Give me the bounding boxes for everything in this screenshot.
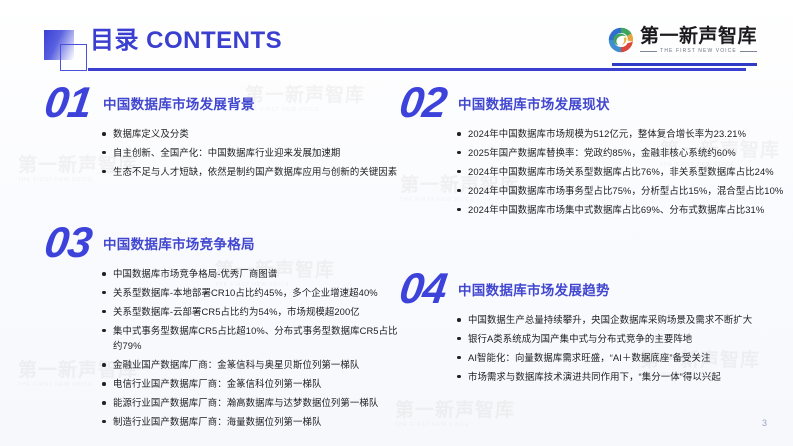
list-item[interactable]: 中国数据库市场竞争格局-优秀厂商图谱: [102, 266, 405, 282]
list-item[interactable]: 生态不足与人才短缺，依然是制约国产数据库应用与创新的关键因素: [102, 164, 405, 180]
section-01-number: 01: [42, 80, 94, 126]
list-item[interactable]: 制造行业国产数据库厂商：海量数据位列第一梯队: [102, 414, 405, 430]
slide-contents-page: 第一新声智库THE FIRST NEW VOICE 第一新声智库THE FIRS…: [0, 0, 793, 446]
section-03-header: 03 中国数据库市场竞争格局: [45, 226, 405, 266]
list-item[interactable]: 2024年中国数据库市场集中式数据库占比69%、分布式数据库占比31%: [457, 202, 785, 218]
first-new-voice-swirl-icon: [607, 26, 635, 54]
list-item[interactable]: 银行A类系统成为国产集中式与分布式竞争的主要阵地: [457, 331, 785, 347]
section-03-title[interactable]: 中国数据库市场竞争格局: [103, 233, 255, 253]
brand-name-cn: 第一新声智库: [640, 27, 757, 46]
section-04-header: 04 中国数据库市场发展趋势: [400, 272, 785, 312]
page-number: 3: [762, 418, 767, 428]
list-item[interactable]: 数据库定义及分类: [102, 126, 405, 142]
list-item[interactable]: 市场需求与数据库技术演进共同作用下，“集分一体”得以兴起: [457, 369, 785, 385]
section-03: 03 中国数据库市场竞争格局 中国数据库市场竞争格局-优秀厂商图谱 关系型数据库…: [45, 226, 405, 433]
list-item[interactable]: 2024年中国数据库市场事务型占比75%，分析型占比15%，混合型占比10%: [457, 183, 785, 199]
tagline-rule-right: [740, 51, 757, 52]
slide-header: 目录 CONTENTS 第一新声智库 THE FIRST NEW VOICE: [0, 0, 793, 80]
section-01-bullets: 数据库定义及分类 自主创新、全国产化：中国数据库行业迎来发展加速期 生态不足与人…: [102, 126, 405, 179]
brand-logo: 第一新声智库 THE FIRST NEW VOICE: [607, 26, 757, 54]
section-01-title[interactable]: 中国数据库市场发展背景: [103, 93, 255, 113]
list-item[interactable]: 2024年中国数据库市场关系型数据库占比76%，非关系型数据库占比24%: [457, 164, 785, 180]
tagline-rule-left: [640, 51, 657, 52]
list-item[interactable]: AI智能化：向量数据库需求旺盛，“AI＋数据底座”备受关注: [457, 350, 785, 366]
section-03-bullets: 中国数据库市场竞争格局-优秀厂商图谱 关系型数据库-本地部署CR10占比约45%…: [102, 266, 405, 429]
section-02-header: 02 中国数据库市场发展现状: [400, 86, 785, 126]
title-underline-rule: [88, 68, 746, 71]
brand-text: 第一新声智库 THE FIRST NEW VOICE: [640, 27, 757, 54]
page-title: 目录 CONTENTS: [90, 26, 282, 56]
section-04: 04 中国数据库市场发展趋势 中国数据生产总量持续攀升，央国企数据库采购场景及需…: [400, 272, 785, 388]
section-04-number: 04: [397, 266, 449, 312]
page-title-block: 目录 CONTENTS: [90, 26, 282, 56]
outline-square-icon: [60, 44, 87, 71]
section-01-header: 01 中国数据库市场发展背景: [45, 86, 405, 126]
list-item[interactable]: 关系型数据库-本地部署CR10占比约45%，多个企业增速超40%: [102, 285, 405, 301]
section-04-bullets: 中国数据生产总量持续攀升，央国企数据库采购场景及需求不断扩大 银行A类系统成为国…: [457, 312, 785, 384]
list-item[interactable]: 2025年国产数据库替换率：党政约85%，金融非核心系统约60%: [457, 145, 785, 161]
list-item[interactable]: 集中式事务型数据库CR5占比超10%、分布式事务型数据库CR5占比约79%: [102, 323, 405, 354]
list-item[interactable]: 关系型数据库-云部署CR5占比约为54%，市场规模超200亿: [102, 304, 405, 320]
list-item[interactable]: 2024年中国数据库市场规模为512亿元，整体复合增长率为23.21%: [457, 126, 785, 142]
section-01: 01 中国数据库市场发展背景 数据库定义及分类 自主创新、全国产化：中国数据库行…: [45, 86, 405, 183]
section-02-number: 02: [397, 80, 449, 126]
list-item[interactable]: 金融业国产数据库厂商：金篆信科与奥星贝斯位列第一梯队: [102, 357, 405, 373]
section-03-number: 03: [42, 220, 94, 266]
brand-tagline-row: THE FIRST NEW VOICE: [640, 49, 757, 54]
list-item[interactable]: 中国数据生产总量持续攀升，央国企数据库采购场景及需求不断扩大: [457, 312, 785, 328]
brand-name-en: THE FIRST NEW VOICE: [660, 49, 737, 54]
watermark: 第一新声智库THE FIRST NEW VOICE: [395, 395, 515, 428]
list-item[interactable]: 自主创新、全国产化：中国数据库行业迎来发展加速期: [102, 145, 405, 161]
list-item[interactable]: 电信行业国产数据库厂商：金篆信科位列第一梯队: [102, 376, 405, 392]
section-02-bullets: 2024年中国数据库市场规模为512亿元，整体复合增长率为23.21% 2025…: [457, 126, 785, 217]
section-04-title[interactable]: 中国数据库市场发展趋势: [458, 279, 610, 299]
logo-underline-rule: [612, 63, 757, 66]
section-02-title[interactable]: 中国数据库市场发展现状: [458, 93, 610, 113]
section-02: 02 中国数据库市场发展现状 2024年中国数据库市场规模为512亿元，整体复合…: [400, 86, 785, 220]
list-item[interactable]: 能源行业国产数据库厂商：瀚高数据库与达梦数据位列第一梯队: [102, 395, 405, 411]
